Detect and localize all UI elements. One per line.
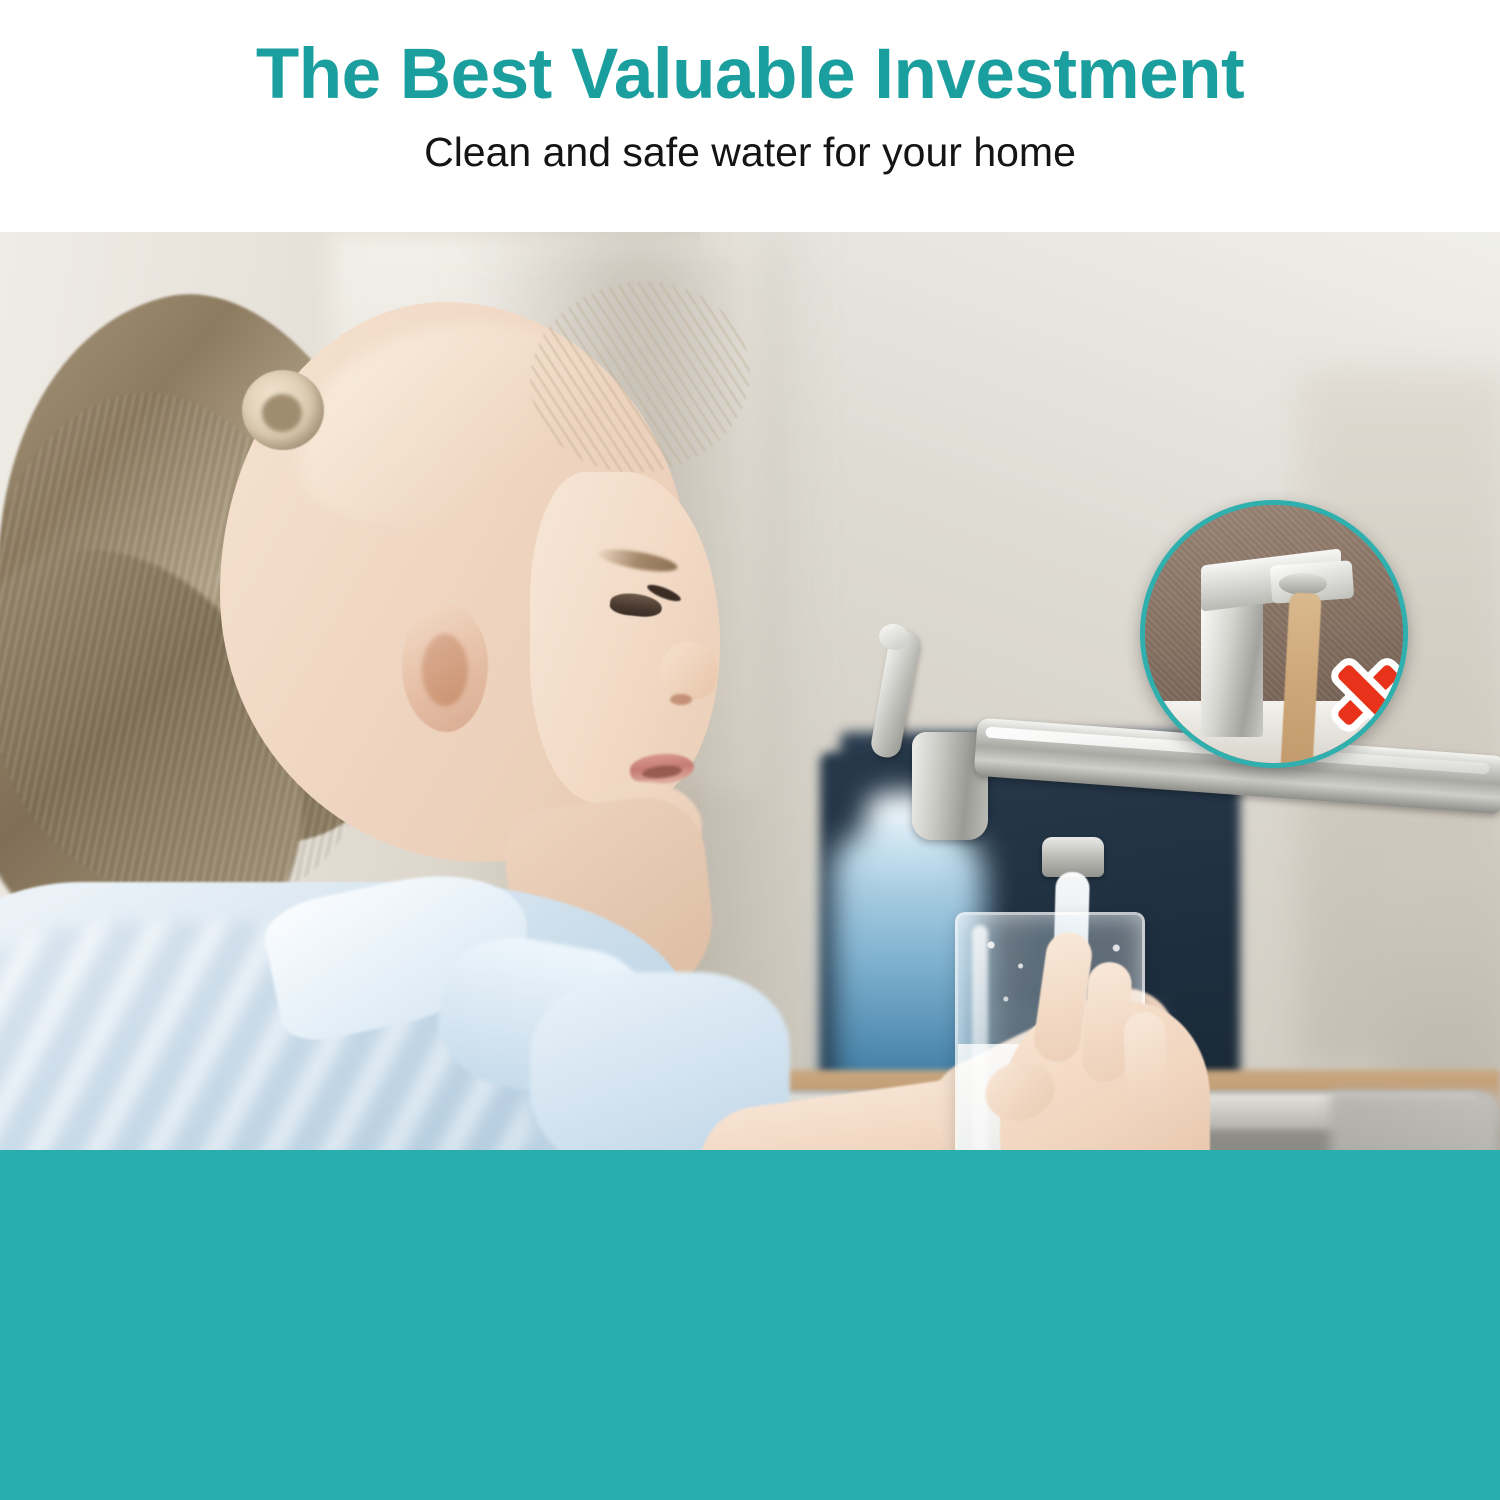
- glass-highlight: [972, 925, 988, 1150]
- stats-bar: V7 20000 Gallons Life: [0, 1150, 1500, 1500]
- page-subtitle: Clean and safe water for your home: [424, 129, 1076, 176]
- faucet-aerator: [1042, 837, 1104, 877]
- face-profile: [530, 472, 720, 802]
- girl-figure: [0, 242, 800, 1150]
- ear-inner: [422, 634, 468, 706]
- header: The Best Valuable Investment Clean and s…: [0, 0, 1500, 232]
- hero-photo: [0, 232, 1500, 1150]
- nose: [660, 642, 718, 700]
- finger-ring: [1123, 1011, 1169, 1122]
- badge-faucet-body: [1201, 597, 1263, 737]
- sink-edge-right: [1330, 1092, 1500, 1150]
- badge-faucet-ring: [1279, 573, 1327, 595]
- nostril: [670, 694, 692, 705]
- hair-tie-inner: [262, 394, 302, 432]
- dirty-water-badge: [1140, 500, 1408, 768]
- page-title: The Best Valuable Investment: [256, 38, 1244, 113]
- product-infographic: The Best Valuable Investment Clean and s…: [0, 0, 1500, 1500]
- red-x-icon: [1331, 657, 1407, 733]
